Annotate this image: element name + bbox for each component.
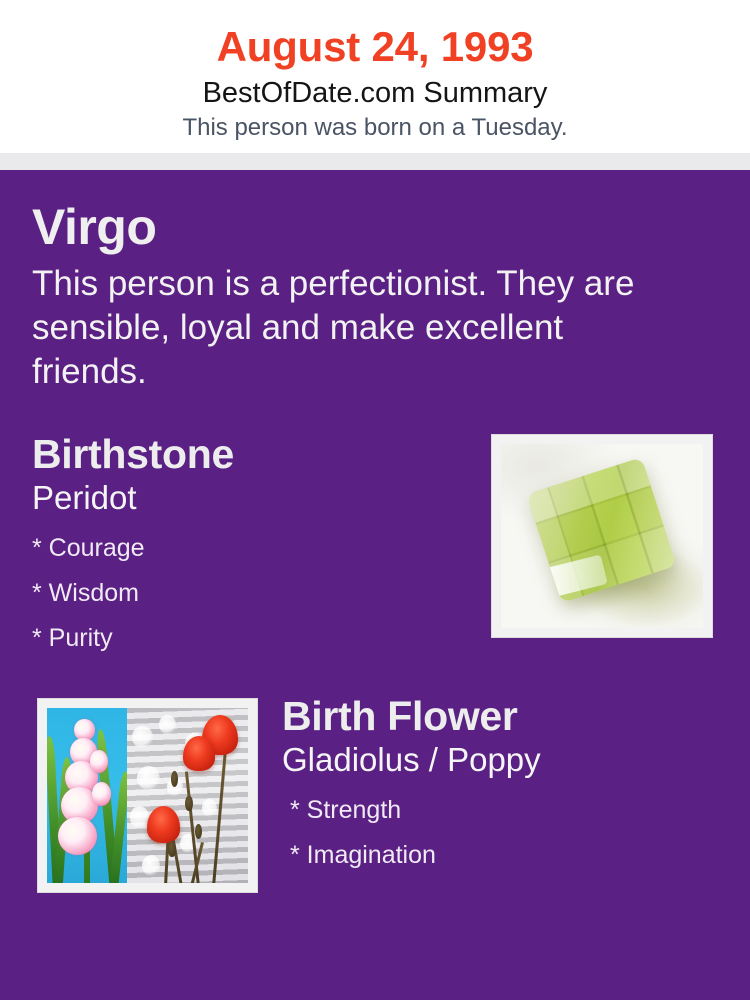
zodiac-description: This person is a perfectionist. They are… bbox=[32, 262, 672, 394]
birth-flower-trait-list: * Strength * Imagination bbox=[282, 788, 750, 878]
birth-flower-heading: Birth Flower bbox=[282, 692, 750, 740]
birth-flower-section: Birth Flower Gladiolus / Poppy * Strengt… bbox=[0, 692, 750, 907]
birthstone-photo bbox=[491, 434, 713, 638]
zodiac-section: Virgo This person is a perfectionist. Th… bbox=[0, 170, 750, 394]
page-title: August 24, 1993 bbox=[0, 22, 750, 72]
birth-flower-name: Gladiolus / Poppy bbox=[282, 740, 750, 780]
birthstone-section: Birthstone Peridot * Courage * Wisdom * … bbox=[0, 430, 750, 660]
gladiolus-pane bbox=[47, 708, 127, 883]
header-divider-band bbox=[0, 153, 750, 170]
list-item: * Strength bbox=[290, 788, 750, 833]
born-weekday-text: This person was born on a Tuesday. bbox=[0, 112, 750, 144]
zodiac-sign-name: Virgo bbox=[32, 198, 718, 256]
flower-split-composite bbox=[47, 708, 248, 883]
site-summary-subtitle: BestOfDate.com Summary bbox=[0, 74, 750, 112]
birth-flower-photo-inner bbox=[47, 708, 248, 883]
poppy-pane bbox=[127, 708, 248, 883]
list-item: * Imagination bbox=[290, 833, 750, 878]
summary-panel: Virgo This person is a perfectionist. Th… bbox=[0, 170, 750, 1000]
poppy-flower-icon bbox=[147, 806, 181, 843]
birth-flower-photo bbox=[37, 698, 258, 893]
page-header: August 24, 1993 BestOfDate.com Summary T… bbox=[0, 0, 750, 153]
birthstone-photo-inner bbox=[501, 444, 703, 628]
